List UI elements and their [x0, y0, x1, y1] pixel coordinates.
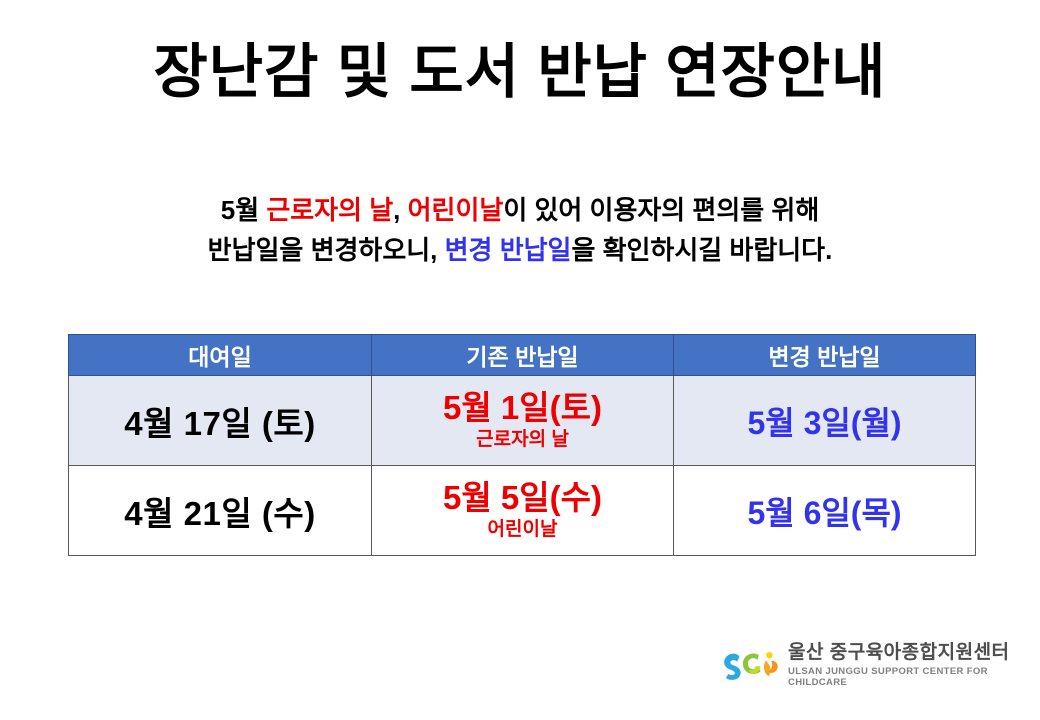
cell-changed-return-date: 5월 3일(월): [674, 376, 976, 466]
notice-line-2: 반납일을 변경하오니, 변경 반납일을 확인하시길 바랍니다.: [0, 230, 1040, 270]
sc-logo-icon: [722, 649, 778, 683]
logo-name-english: ULSAN JUNGGU SUPPORT CENTER FOR CHILDCAR…: [788, 666, 1040, 689]
column-header-original-return-date: 기존 반납일: [372, 335, 674, 376]
cell-rental-date: 4월 17일 (토): [69, 376, 372, 466]
cell-rental-date: 4월 21일 (수): [69, 466, 372, 556]
notice-line-1: 5월 근로자의 날, 어린이날이 있어 이용자의 편의를 위해: [0, 190, 1040, 230]
original-return-date-note: 근로자의 날: [372, 429, 673, 452]
notice-text-tail: 이 있어 이용자의 편의를 위해: [503, 195, 819, 225]
table-body: 4월 17일 (토) 5월 1일(토) 근로자의 날 5월 3일(월) 4월 2…: [69, 376, 976, 556]
original-return-date-value: 5월 1일(토): [372, 390, 673, 427]
column-header-rental-date: 대여일: [69, 335, 372, 376]
table-header: 대여일 기존 반납일 변경 반납일: [69, 335, 976, 376]
notice-highlight-changed-return-date: 변경 반납일: [445, 235, 572, 265]
cell-original-return-date: 5월 1일(토) 근로자의 날: [372, 376, 674, 466]
cell-original-return-date: 5월 5일(수) 어린이날: [372, 466, 674, 556]
notice-text-plain: 5월: [221, 195, 267, 225]
schedule-table-container: 대여일 기존 반납일 변경 반납일 4월 17일 (토) 5월 1일(토) 근로…: [68, 334, 972, 556]
column-header-changed-return-date: 변경 반납일: [674, 335, 976, 376]
notice-text-comma: ,: [393, 195, 407, 225]
notice-text-end: 을 확인하시길 바랍니다.: [571, 235, 832, 265]
table-header-row: 대여일 기존 반납일 변경 반납일: [69, 335, 976, 376]
table-row: 4월 17일 (토) 5월 1일(토) 근로자의 날 5월 3일(월): [69, 376, 976, 466]
notice-highlight-labor-day: 근로자의 날: [266, 195, 393, 225]
organization-logo: 울산 중구육아종합지원센터 ULSAN JUNGGU SUPPORT CENTE…: [722, 643, 1040, 689]
notice-text-lead: 반납일을 변경하오니,: [208, 235, 445, 265]
return-schedule-table: 대여일 기존 반납일 변경 반납일 4월 17일 (토) 5월 1일(토) 근로…: [68, 334, 976, 556]
original-return-date-value: 5월 5일(수): [372, 480, 673, 517]
notice-highlight-childrens-day: 어린이날: [408, 195, 504, 225]
cell-changed-return-date: 5월 6일(목): [674, 466, 976, 556]
page-title: 장난감 및 도서 반납 연장안내: [0, 42, 1040, 104]
notice-paragraph: 5월 근로자의 날, 어린이날이 있어 이용자의 편의를 위해 반납일을 변경하…: [0, 190, 1040, 271]
logo-name-korean: 울산 중구육아종합지원센터: [788, 643, 1040, 664]
table-row: 4월 21일 (수) 5월 5일(수) 어린이날 5월 6일(목): [69, 466, 976, 556]
logo-text-block: 울산 중구육아종합지원센터 ULSAN JUNGGU SUPPORT CENTE…: [788, 643, 1040, 689]
original-return-date-note: 어린이날: [372, 519, 673, 542]
